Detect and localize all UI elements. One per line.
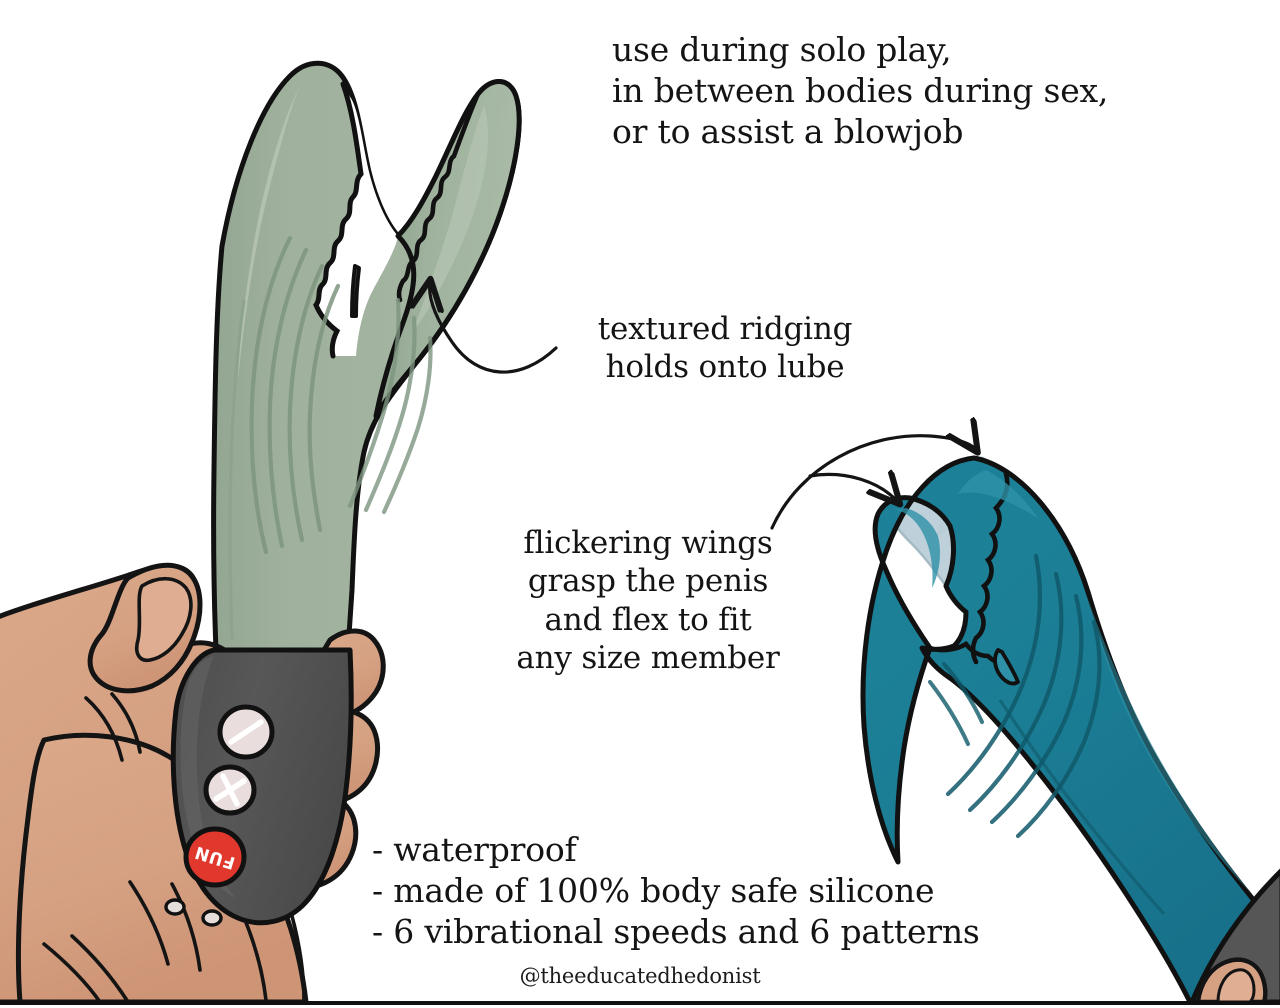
- illustration-canvas: use during solo play, in between bodies …: [0, 0, 1280, 1008]
- charge-contact-right: [203, 911, 221, 925]
- callout-wings-text: flickering wings grasp the penis and fle…: [470, 524, 826, 678]
- callout-ridging-text: textured ridging holds onto lube: [560, 310, 890, 387]
- feature-list-text: - waterproof - made of 100% body safe si…: [372, 830, 980, 953]
- fun-button[interactable]: [186, 829, 244, 885]
- green-center-slit: [352, 266, 359, 316]
- credit-handle: @theeducatedhedonist: [470, 963, 810, 989]
- charge-contact-left: [166, 900, 184, 914]
- wing-arrow-lower: [810, 474, 898, 502]
- callout-usage-text: use during solo play, in between bodies …: [612, 30, 1108, 153]
